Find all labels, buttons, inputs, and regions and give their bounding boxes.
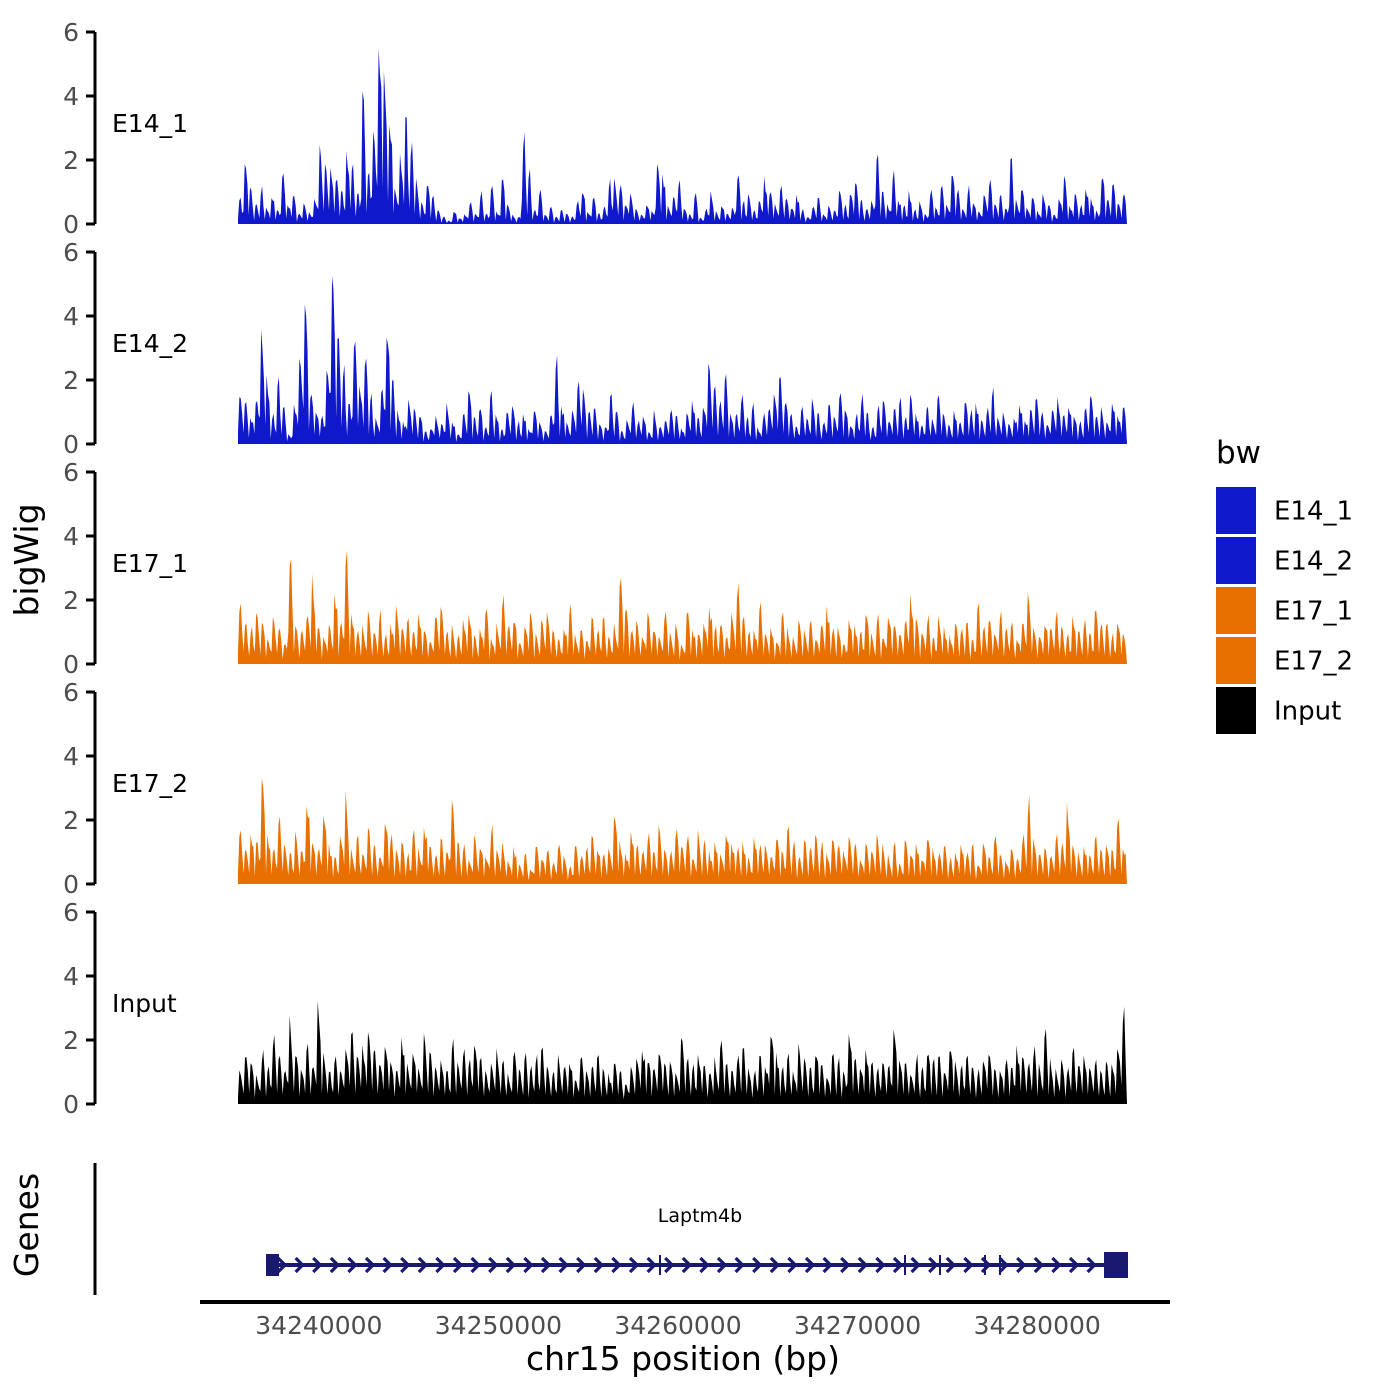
y-tick-label: 0 <box>63 430 79 459</box>
x-axis-title: chr15 position (bp) <box>526 1339 840 1378</box>
exon-block-start <box>266 1254 279 1276</box>
legend-swatch-e14_1[interactable] <box>1216 487 1256 534</box>
track-label-e14_1: E14_1 <box>112 109 188 138</box>
y-tick-label: 2 <box>63 1026 79 1055</box>
y-tick-label: 4 <box>63 522 79 551</box>
y-tick-label: 0 <box>63 1090 79 1119</box>
y-tick-label: 6 <box>63 458 79 487</box>
genome-browser-plot: bigWig Genes 0246E14_10246E14_20246E17_1… <box>0 0 1400 1400</box>
legend-swatch-e17_2[interactable] <box>1216 637 1256 684</box>
track-label-e14_2: E14_2 <box>112 329 188 358</box>
y-tick-label: 2 <box>63 366 79 395</box>
x-tick-label: 34280000 <box>974 1311 1101 1340</box>
y-tick-label: 6 <box>63 18 79 47</box>
legend-swatch-input[interactable] <box>1216 687 1256 734</box>
y-tick-label: 6 <box>63 678 79 707</box>
y-tick-label: 2 <box>63 806 79 835</box>
y-tick-label: 0 <box>63 650 79 679</box>
y-tick-label: 0 <box>63 870 79 899</box>
y-tick-label: 4 <box>63 82 79 111</box>
x-tick-label: 34250000 <box>435 1311 562 1340</box>
y-tick-label: 4 <box>63 962 79 991</box>
x-tick-label: 34240000 <box>255 1311 382 1340</box>
plot-background <box>0 0 1400 1400</box>
gene-name-label: Laptm4b <box>658 1205 742 1227</box>
legend-title: bw <box>1216 435 1261 471</box>
y-tick-label: 4 <box>63 302 79 331</box>
y-tick-label: 4 <box>63 742 79 771</box>
legend-label-e17_2: E17_2 <box>1274 647 1353 677</box>
exon-block-end <box>1104 1252 1128 1278</box>
y-tick-label: 0 <box>63 210 79 239</box>
y-axis-title: bigWig <box>7 503 46 616</box>
legend-swatch-e17_1[interactable] <box>1216 587 1256 634</box>
legend-label-e17_1: E17_1 <box>1274 597 1353 627</box>
y-tick-label: 2 <box>63 586 79 615</box>
genes-axis-title: Genes <box>7 1173 46 1277</box>
track-label-e17_2: E17_2 <box>112 769 188 798</box>
legend-label-e14_1: E14_1 <box>1274 497 1353 527</box>
x-tick-label: 34270000 <box>794 1311 921 1340</box>
legend-label-input: Input <box>1274 697 1341 727</box>
legend-label-e14_2: E14_2 <box>1274 547 1353 577</box>
y-tick-label: 6 <box>63 898 79 927</box>
track-label-e17_1: E17_1 <box>112 549 188 578</box>
legend-swatch-e14_2[interactable] <box>1216 537 1256 584</box>
track-label-input: Input <box>112 989 177 1018</box>
x-tick-label: 34260000 <box>614 1311 741 1340</box>
y-tick-label: 6 <box>63 238 79 267</box>
y-tick-label: 2 <box>63 146 79 175</box>
